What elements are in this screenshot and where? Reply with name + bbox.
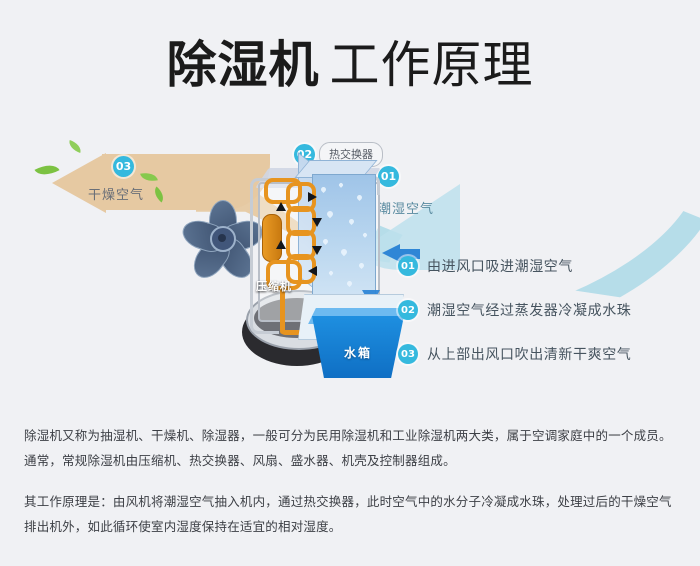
- heat-exchanger-panel: [312, 174, 376, 298]
- flow-arrow-left: [308, 266, 317, 276]
- leaf-icon: [67, 140, 83, 153]
- water-droplet: [362, 232, 368, 238]
- page-title: 除湿机工作原理: [0, 36, 700, 94]
- water-droplet: [340, 248, 348, 256]
- dehumidifier-illustration: 压缩机 水箱: [236, 148, 416, 393]
- diagram-badge-dry-air: 03: [113, 156, 134, 177]
- compressor-accumulator: [262, 214, 282, 262]
- flow-arrow-down: [312, 246, 322, 255]
- water-droplet: [338, 182, 344, 188]
- legend-label: 从上部出风口吹出清新干爽空气: [427, 344, 631, 364]
- legend-item-01: 01 由进风口吸进潮湿空气: [398, 254, 678, 278]
- water-droplet: [356, 194, 363, 201]
- legend-item-02: 02 潮湿空气经过蒸发器冷凝成水珠: [398, 298, 678, 322]
- infographic-canvas: 除湿机工作原理 干燥空气 03 02 01 热交换器 潮湿空气: [0, 0, 700, 566]
- flow-arrow-up: [276, 202, 286, 211]
- fan-hub: [210, 226, 236, 252]
- refrigerant-coil: [264, 178, 302, 204]
- water-droplet: [346, 280, 353, 287]
- description-paragraph-1: 除湿机又称为抽湿机、干燥机、除湿器，一般可分为民用除湿机和工业除湿机两大类，属于…: [24, 423, 682, 473]
- water-droplet: [326, 210, 334, 218]
- water-droplet: [322, 238, 329, 245]
- title-light-part: 工作原理: [330, 36, 534, 94]
- dry-air-arrow-head: [52, 153, 106, 213]
- refrigerant-pipe: [280, 288, 285, 334]
- water-droplet: [328, 270, 334, 276]
- description-paragraph-2: 其工作原理是：由风机将潮湿空气抽入机内，通过热交换器，此时空气中的水分子冷凝成水…: [24, 489, 682, 539]
- dry-air-label: 干燥空气: [88, 184, 144, 203]
- water-droplet: [358, 262, 365, 269]
- legend-item-03: 03 从上部出风口吹出清新干爽空气: [398, 342, 678, 366]
- legend-list: 01 由进风口吸进潮湿空气 02 潮湿空气经过蒸发器冷凝成水珠 03 从上部出风…: [398, 254, 678, 386]
- title-bold-part: 除湿机: [167, 36, 320, 94]
- legend-badge: 02: [398, 300, 418, 320]
- water-droplet: [348, 218, 355, 225]
- legend-badge: 01: [398, 256, 418, 276]
- legend-badge: 03: [398, 344, 418, 364]
- flow-arrow-down: [312, 218, 322, 227]
- flow-arrow-up: [276, 240, 286, 249]
- compressor-label: 压缩机: [256, 278, 292, 294]
- legend-label: 由进风口吸进潮湿空气: [427, 256, 573, 276]
- legend-label: 潮湿空气经过蒸发器冷凝成水珠: [427, 300, 631, 320]
- flow-arrow-right: [308, 192, 317, 202]
- water-tank-label: 水箱: [344, 344, 372, 361]
- water-droplet: [320, 186, 327, 193]
